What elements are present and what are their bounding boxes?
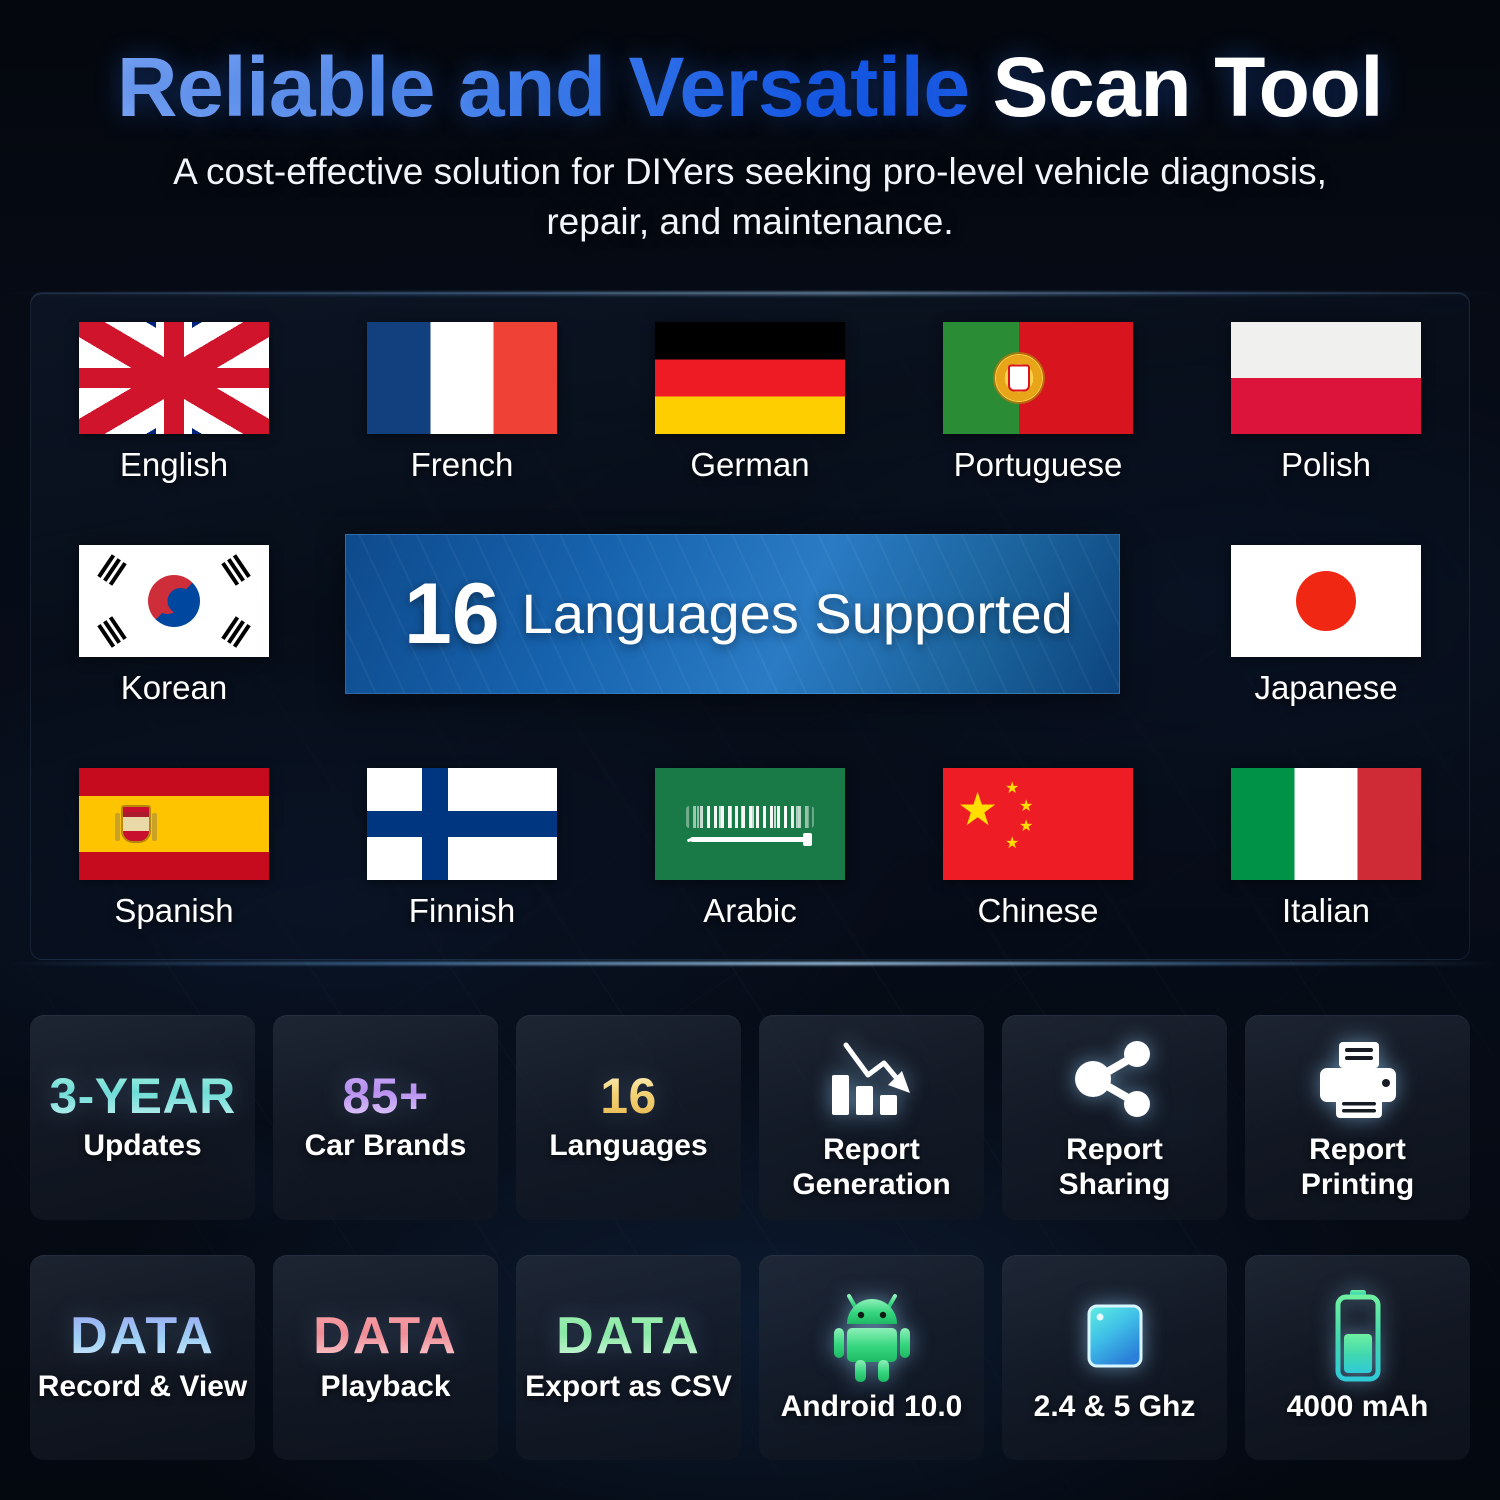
feature-card-android-version[interactable]: Android 10.0 xyxy=(759,1255,984,1460)
flag-label: Spanish xyxy=(114,892,233,930)
feature-card-data-record-view[interactable]: DATA Record & View xyxy=(30,1255,255,1460)
flag-saudi-arabia-icon xyxy=(655,768,845,880)
feature-label: 2.4 & 5 Ghz xyxy=(1034,1390,1196,1424)
android-robot-icon xyxy=(833,1290,911,1382)
feature-card-wifi-bands[interactable]: 2.4 & 5 Ghz xyxy=(1002,1255,1227,1460)
page-header: Reliable and Versatile Scan Tool A cost-… xyxy=(0,0,1500,247)
flag-label: Japanese xyxy=(1254,669,1397,707)
flag-label: German xyxy=(690,446,809,484)
flag-japan-icon xyxy=(1231,545,1421,657)
feature-label: Car Brands xyxy=(305,1129,467,1163)
flag-item-korean[interactable]: Korean xyxy=(79,545,269,707)
printer-icon xyxy=(1312,1033,1404,1125)
flag-label: English xyxy=(120,446,228,484)
flag-item-japanese[interactable]: Japanese xyxy=(1231,545,1421,707)
languages-supported-banner: 16 Languages Supported xyxy=(345,534,1120,694)
flag-germany-icon xyxy=(655,322,845,434)
feature-headline: 16 xyxy=(600,1071,657,1121)
feature-headline: DATA xyxy=(70,1310,215,1362)
flag-italy-icon xyxy=(1231,768,1421,880)
bar-chart-down-icon xyxy=(826,1033,918,1125)
flag-china-icon: ★ ★ ★ ★ ★ xyxy=(943,768,1133,880)
flag-item-finnish[interactable]: Finnish xyxy=(367,768,557,930)
flag-label: Arabic xyxy=(703,892,797,930)
feature-label: Report Sharing xyxy=(1008,1133,1221,1201)
flag-poland-icon xyxy=(1231,322,1421,434)
flag-france-icon xyxy=(367,322,557,434)
flag-item-german[interactable]: German xyxy=(655,322,845,484)
feature-card-languages[interactable]: 16 Languages xyxy=(516,1015,741,1220)
feature-headline: DATA xyxy=(556,1310,701,1362)
share-nodes-icon xyxy=(1072,1033,1158,1125)
feature-row-1: 3-YEAR Updates 85+ Car Brands 16 Languag… xyxy=(30,1015,1470,1220)
flag-item-portuguese[interactable]: Portuguese xyxy=(943,322,1133,484)
feature-row-2: DATA Record & View DATA Playback DATA Ex… xyxy=(30,1255,1470,1460)
feature-label: Report Printing xyxy=(1251,1133,1464,1201)
feature-label: 4000 mAh xyxy=(1287,1390,1429,1424)
flag-label: Korean xyxy=(121,669,227,707)
light-streak-bottom xyxy=(0,962,1500,965)
page-title: Reliable and Versatile Scan Tool xyxy=(0,44,1500,131)
feature-headline: 85+ xyxy=(342,1071,428,1121)
flag-item-italian[interactable]: Italian xyxy=(1231,768,1421,930)
promo-page: Reliable and Versatile Scan Tool A cost-… xyxy=(0,0,1500,1500)
flag-spain-icon xyxy=(79,768,269,880)
flag-label: Polish xyxy=(1281,446,1371,484)
flag-item-spanish[interactable]: Spanish xyxy=(79,768,269,930)
flag-item-arabic[interactable]: Arabic xyxy=(655,768,845,930)
flag-south-korea-icon xyxy=(79,545,269,657)
feature-card-data-export-csv[interactable]: DATA Export as CSV xyxy=(516,1255,741,1460)
flag-item-french[interactable]: French xyxy=(367,322,557,484)
flag-label: French xyxy=(411,446,514,484)
flag-label: Finnish xyxy=(409,892,515,930)
flag-uk-icon xyxy=(79,322,269,434)
feature-card-report-generation[interactable]: Report Generation xyxy=(759,1015,984,1220)
feature-label: Languages xyxy=(549,1129,707,1163)
flag-portugal-icon xyxy=(943,322,1133,434)
flag-label: Portuguese xyxy=(954,446,1123,484)
feature-card-report-sharing[interactable]: Report Sharing xyxy=(1002,1015,1227,1220)
feature-card-updates[interactable]: 3-YEAR Updates xyxy=(30,1015,255,1220)
feature-headline: DATA xyxy=(313,1310,458,1362)
flag-finland-icon xyxy=(367,768,557,880)
feature-card-report-printing[interactable]: Report Printing xyxy=(1245,1015,1470,1220)
feature-label: Record & View xyxy=(38,1370,248,1404)
flag-item-english[interactable]: English xyxy=(79,322,269,484)
battery-icon xyxy=(1328,1290,1388,1382)
languages-count: 16 xyxy=(404,571,500,657)
flag-item-chinese[interactable]: ★ ★ ★ ★ ★ Chinese xyxy=(943,768,1133,930)
feature-headline: 3-YEAR xyxy=(49,1071,235,1121)
feature-card-data-playback[interactable]: DATA Playback xyxy=(273,1255,498,1460)
page-subtitle: A cost-effective solution for DIYers see… xyxy=(160,147,1340,247)
languages-banner-text: Languages Supported xyxy=(522,586,1073,642)
flag-item-polish[interactable]: Polish xyxy=(1231,322,1421,484)
feature-card-car-brands[interactable]: 85+ Car Brands xyxy=(273,1015,498,1220)
feature-label: Report Generation xyxy=(765,1133,978,1201)
page-title-highlight: Reliable and Versatile xyxy=(117,40,970,134)
feature-label: Playback xyxy=(320,1370,450,1404)
feature-card-battery-capacity[interactable]: 4000 mAh xyxy=(1245,1255,1470,1460)
cpu-chip-icon xyxy=(1073,1290,1157,1382)
page-title-plain: Scan Tool xyxy=(992,40,1383,134)
feature-label: Export as CSV xyxy=(525,1370,732,1404)
flag-label: Italian xyxy=(1282,892,1370,930)
flag-label: Chinese xyxy=(977,892,1098,930)
feature-label: Updates xyxy=(83,1129,201,1163)
feature-label: Android 10.0 xyxy=(781,1390,963,1424)
